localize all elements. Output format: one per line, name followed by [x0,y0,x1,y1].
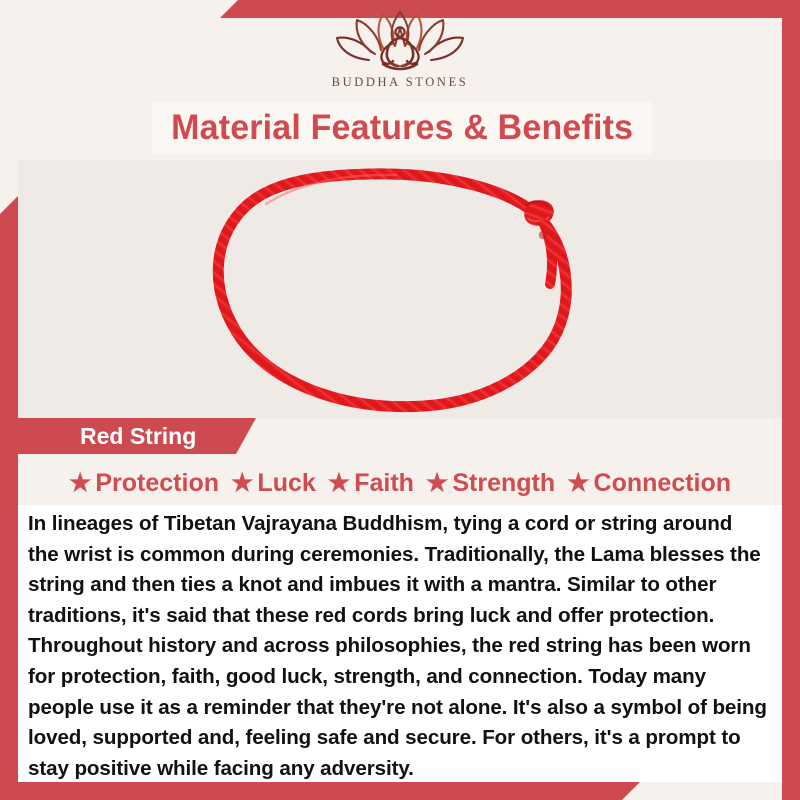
description-block: In lineages of Tibetan Vajrayana Buddhis… [18,505,782,782]
material-label: Red String [18,423,196,450]
infographic-page: BUDDHA STONES Material Features & Benefi… [0,0,800,800]
star-icon: ★ [328,471,350,496]
frame-band-left [0,196,18,800]
title-banner: Material Features & Benefits [152,102,652,154]
frame-band-bottom [0,782,640,800]
star-icon: ★ [69,471,91,496]
product-image [18,160,782,418]
benefit-item-protection: ★ Protection [63,469,225,498]
description-paragraph: In lineages of Tibetan Vajrayana Buddhis… [28,509,768,784]
frame-band-right [782,18,800,800]
benefits-row: ★ Protection ★ Luck ★ Faith ★ Strength ★… [18,462,782,504]
star-icon: ★ [567,471,589,496]
benefit-item-faith: ★ Faith [322,469,420,498]
benefit-item-strength: ★ Strength [420,469,561,498]
benefit-label: Faith [354,469,414,498]
page-title: Material Features & Benefits [171,108,633,148]
benefit-label: Protection [95,469,219,498]
lotus-meditation-icon [325,8,475,74]
benefit-item-connection: ★ Connection [561,469,737,498]
material-ribbon: Red String [18,418,256,454]
brand-name: BUDDHA STONES [332,75,469,90]
star-icon: ★ [426,471,448,496]
benefit-item-luck: ★ Luck [225,469,322,498]
red-string-bracelet-illustration [18,160,782,418]
benefit-label: Strength [452,469,555,498]
brand-logo: BUDDHA STONES [0,8,800,100]
benefit-label: Luck [257,469,315,498]
benefit-label: Connection [594,469,732,498]
star-icon: ★ [231,471,253,496]
